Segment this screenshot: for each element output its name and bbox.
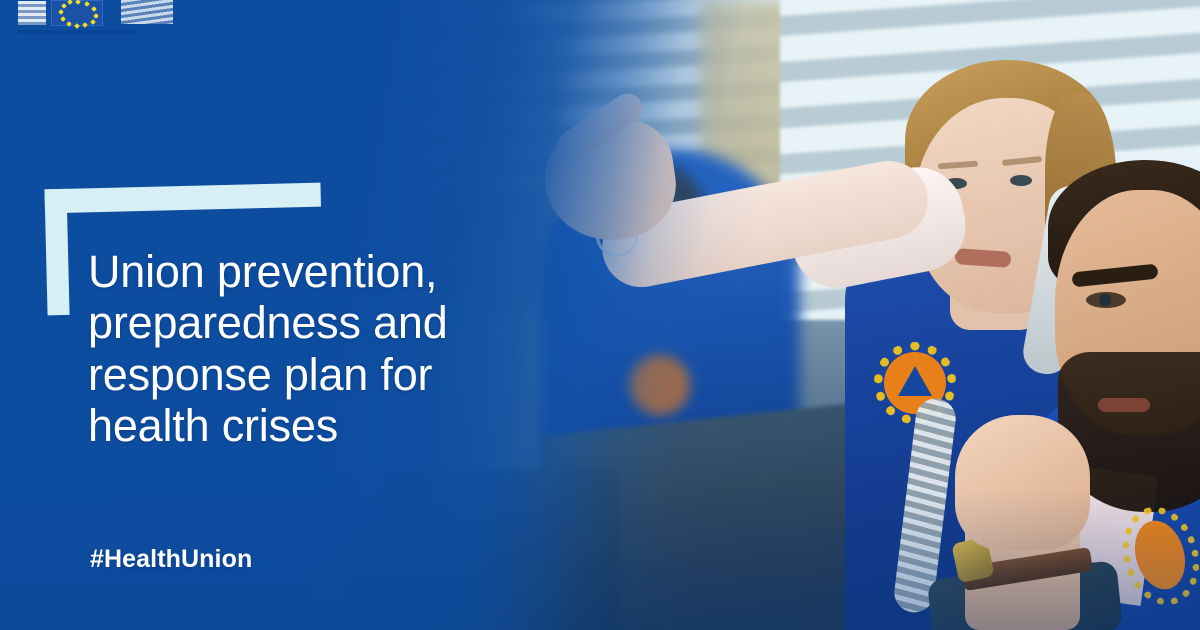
european-union-flag-icon (51, 0, 103, 26)
ec-logo-bar (113, 0, 118, 24)
european-union-flag-logo (18, 0, 103, 26)
eu-logo-bar (0, 0, 173, 34)
banner-content: Union prevention, preparedness and respo… (0, 0, 660, 630)
campaign-hashtag: #HealthUnion (90, 545, 252, 574)
bracket-horizontal-bar (45, 183, 322, 214)
page-title: Union prevention, preparedness and respo… (88, 246, 608, 451)
health-union-campaign-banner: Union prevention, preparedness and respo… (0, 0, 1200, 630)
flag-strip-icon (18, 1, 46, 25)
bracket-vertical-bar (45, 189, 70, 315)
european-commission-logo-icon (121, 0, 173, 24)
